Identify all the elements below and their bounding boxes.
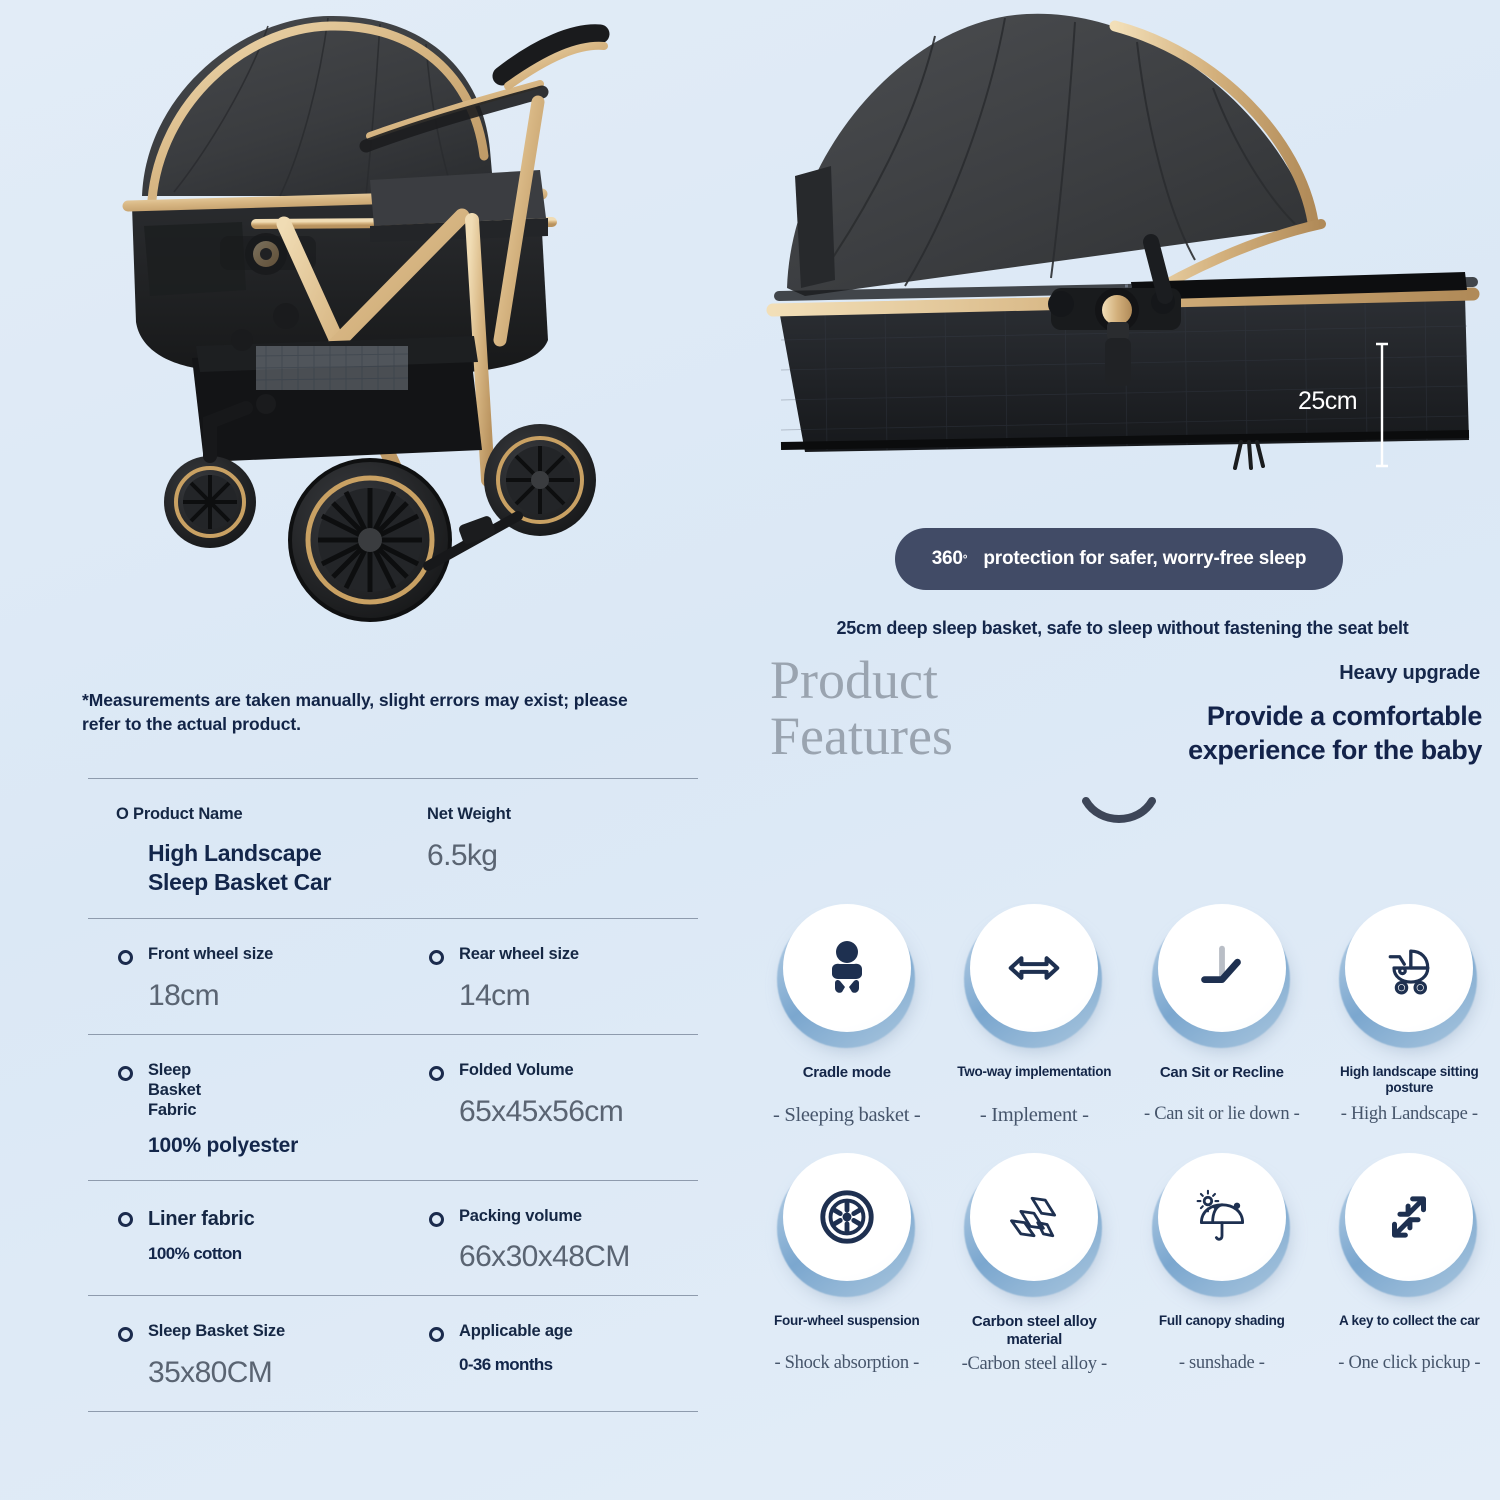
feature-title: High landscape sitting posture: [1320, 1064, 1500, 1100]
spec-cell-folded-volume: Folded Volume 65x45x56cm: [393, 1061, 698, 1157]
feature-icon-wrap: [1146, 900, 1298, 1052]
feature-title: Cradle mode: [803, 1064, 891, 1100]
collapse-arrows-icon: [1345, 1153, 1473, 1281]
spec-label: Liner fabric: [116, 1207, 393, 1231]
spec-value: 65x45x56cm: [427, 1095, 698, 1128]
bullet-ring-icon: [118, 1066, 133, 1081]
measurement-disclaimer: *Measurements are taken manually, slight…: [82, 688, 662, 736]
feature-icon-wrap: [771, 900, 923, 1052]
spec-value: 100% cotton: [116, 1245, 393, 1264]
feature-icon-wrap: [1333, 1149, 1485, 1301]
spec-label: Applicable age: [427, 1322, 698, 1342]
spec-cell-front-wheel-size: Front wheel size 18cm: [88, 945, 393, 1012]
spec-label: Front wheel size: [116, 945, 393, 965]
spec-label: Net Weight: [427, 805, 698, 825]
spec-value: 100% polyester: [116, 1134, 393, 1157]
feature-subtitle: -Carbon steel alloy -: [962, 1354, 1107, 1375]
feature-item-carbon-steel-alloy[interactable]: Carbon steel alloy material -Carbon stee…: [941, 1149, 1129, 1375]
feature-subtitle: - Can sit or lie down -: [1144, 1104, 1299, 1125]
deep-sleep-caption: 25cm deep sleep basket, safe to sleep wi…: [745, 618, 1500, 639]
feature-icon-wrap: [958, 900, 1110, 1052]
feature-title: Two-way implementation: [957, 1064, 1111, 1100]
feature-subtitle: - High Landscape -: [1341, 1104, 1478, 1125]
bullet-ring-icon: [118, 1212, 133, 1227]
product-features-heading: Product Features: [770, 652, 953, 764]
feature-item-two-way[interactable]: Two-way implementation - Implement -: [941, 900, 1129, 1127]
steel-ingots-icon: [970, 1153, 1098, 1281]
spec-label: Packing volume: [427, 1207, 698, 1227]
table-row: O Product Name High Landscape Sleep Bask…: [88, 778, 698, 918]
umbrella-sun-icon: [1158, 1153, 1286, 1281]
spec-label: Sleep Basket Size: [116, 1322, 393, 1342]
spec-cell-packing-volume: Packing volume 66x30x48CM: [393, 1207, 698, 1274]
sleep-basket-photo: 25cm: [765, 10, 1495, 500]
spec-cell-rear-wheel-size: Rear wheel size 14cm: [393, 945, 698, 1012]
two-way-arrow-icon: [970, 904, 1098, 1032]
table-row: Front wheel size 18cm Rear wheel size 14…: [88, 918, 698, 1034]
feature-item-four-wheel-suspension[interactable]: Four-wheel suspension - Shock absorption…: [753, 1149, 941, 1375]
recline-angle-icon: [1158, 904, 1286, 1032]
spec-value: 0-36 months: [427, 1356, 698, 1375]
feature-title: Carbon steel alloy material: [945, 1313, 1125, 1350]
feature-item-canopy-shading[interactable]: Full canopy shading - sunshade -: [1128, 1149, 1316, 1375]
feature-item-cradle-mode[interactable]: Cradle mode - Sleeping basket -: [753, 900, 941, 1127]
feature-title: Can Sit or Recline: [1160, 1064, 1284, 1100]
feature-icon-wrap: [958, 1149, 1110, 1301]
feature-subtitle: - Sleeping basket -: [773, 1104, 920, 1127]
spec-value: 14cm: [427, 979, 698, 1012]
feature-icon-wrap: [1146, 1149, 1298, 1301]
stroller-product-photo: [70, 10, 730, 670]
spec-value: 66x30x48CM: [427, 1240, 698, 1273]
feature-item-sit-or-recline[interactable]: Can Sit or Recline - Can sit or lie down…: [1128, 900, 1316, 1127]
feature-title: A key to collect the car: [1339, 1313, 1480, 1349]
spec-label: Sleep Basket Fabric: [116, 1061, 236, 1120]
spec-cell-applicable-age: Applicable age 0-36 months: [393, 1322, 698, 1389]
stroller-icon: [1345, 904, 1473, 1032]
spec-cell-sleep-basket-fabric: Sleep Basket Fabric 100% polyester: [88, 1061, 393, 1157]
spec-label: Folded Volume: [427, 1061, 698, 1081]
feature-subtitle: - sunshade -: [1179, 1353, 1265, 1374]
spec-value: 6.5kg: [427, 839, 698, 872]
degree-symbol: °: [963, 552, 968, 566]
table-row: Sleep Basket Size 35x80CM Applicable age…: [88, 1295, 698, 1412]
feature-item-one-click-fold[interactable]: A key to collect the car - One click pic…: [1316, 1149, 1500, 1375]
bullet-ring-icon: [429, 1212, 444, 1227]
feature-item-high-landscape[interactable]: High landscape sitting posture - High La…: [1316, 900, 1500, 1127]
heading-line-1: Product: [770, 652, 953, 708]
feature-subtitle: - Shock absorption -: [774, 1353, 919, 1374]
feature-title: Four-wheel suspension: [774, 1313, 920, 1349]
feature-subtitle: - One click pickup -: [1338, 1353, 1480, 1374]
protection-banner-pill: 360°protection for safer, worry-free sle…: [895, 528, 1343, 590]
dimension-line-25cm: [1375, 340, 1389, 470]
left-column: *Measurements are taken manually, slight…: [0, 0, 745, 1500]
right-column: 25cm 360°protection for safer, worry-fre…: [745, 0, 1500, 1500]
baby-icon: [783, 904, 911, 1032]
headline-text: Provide a comfortable experience for the…: [1188, 700, 1482, 768]
product-detail-page: *Measurements are taken manually, slight…: [0, 0, 1500, 1500]
spec-cell-net-weight: Net Weight 6.5kg: [393, 805, 698, 896]
heading-line-2: Features: [770, 708, 953, 764]
table-row: Sleep Basket Fabric 100% polyester Folde…: [88, 1034, 698, 1179]
bullet-ring-icon: [429, 1066, 444, 1081]
spec-value: High Landscape Sleep Basket Car: [116, 839, 366, 897]
spec-label: Rear wheel size: [427, 945, 698, 965]
spec-cell-sleep-basket-size: Sleep Basket Size 35x80CM: [88, 1322, 393, 1389]
spec-cell-product-name: O Product Name High Landscape Sleep Bask…: [88, 805, 393, 896]
headline-line-2: experience for the baby: [1188, 734, 1482, 768]
spec-label: O Product Name: [116, 805, 393, 825]
wheel-icon: [783, 1153, 911, 1281]
feature-title: Full canopy shading: [1159, 1313, 1285, 1349]
kicker-text: Heavy upgrade: [1339, 662, 1480, 685]
feature-icon-wrap: [771, 1149, 923, 1301]
spec-cell-liner-fabric: Liner fabric 100% cotton: [88, 1207, 393, 1274]
smile-arc-decoration: [1080, 795, 1158, 831]
feature-icon-wrap: [1333, 900, 1485, 1052]
table-row: Liner fabric 100% cotton Packing volume …: [88, 1180, 698, 1296]
headline-line-1: Provide a comfortable: [1188, 700, 1482, 734]
spec-value: 18cm: [116, 979, 393, 1012]
pill-number: 360: [932, 548, 963, 570]
specification-table: O Product Name High Landscape Sleep Bask…: [88, 778, 698, 1412]
feature-grid: Cradle mode - Sleeping basket - Two-way …: [753, 900, 1500, 1375]
spec-value: 35x80CM: [116, 1356, 393, 1389]
pill-text: protection for safer, worry-free sleep: [983, 548, 1306, 570]
feature-subtitle: - Implement -: [980, 1104, 1089, 1127]
dimension-label: 25cm: [1298, 387, 1357, 416]
